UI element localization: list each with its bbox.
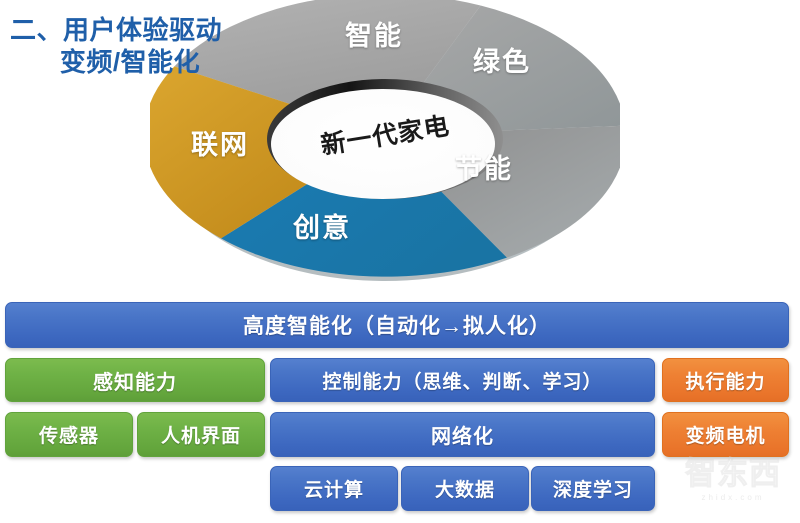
watermark-subtext: zhidx.com bbox=[674, 493, 792, 502]
donut-label-chuangyi: 创意 bbox=[293, 206, 351, 245]
box-high-intelligence[interactable]: 高度智能化（自动化→拟人化） bbox=[5, 302, 789, 348]
box-hmi[interactable]: 人机界面 bbox=[137, 412, 265, 457]
donut-label-lvse: 绿色 bbox=[473, 40, 531, 79]
donut-label-jieneng: 节能 bbox=[455, 147, 513, 186]
box-control[interactable]: 控制能力（思维、判断、学习） bbox=[270, 358, 655, 402]
box-execution[interactable]: 执行能力 bbox=[662, 358, 789, 402]
page-title-line2: 变频/智能化 bbox=[8, 46, 278, 78]
box-network[interactable]: 网络化 bbox=[270, 412, 655, 457]
box-big-data[interactable]: 大数据 bbox=[401, 466, 529, 511]
box-deep-learning[interactable]: 深度学习 bbox=[531, 466, 655, 511]
donut-label-lianwang: 联网 bbox=[191, 123, 249, 162]
donut-label-zhineng: 智能 bbox=[345, 14, 403, 53]
watermark-text: 智东西 bbox=[674, 455, 792, 493]
box-perception[interactable]: 感知能力 bbox=[5, 358, 265, 402]
box-cloud-computing[interactable]: 云计算 bbox=[270, 466, 398, 511]
page-title: 二、用户体验驱动 变频/智能化 bbox=[8, 14, 278, 78]
watermark-logo: 智东西 zhidx.com bbox=[674, 455, 792, 517]
box-sensor[interactable]: 传感器 bbox=[5, 412, 133, 457]
box-vf-motor[interactable]: 变频电机 bbox=[662, 412, 789, 457]
page-title-line1: 二、用户体验驱动 bbox=[8, 14, 278, 46]
